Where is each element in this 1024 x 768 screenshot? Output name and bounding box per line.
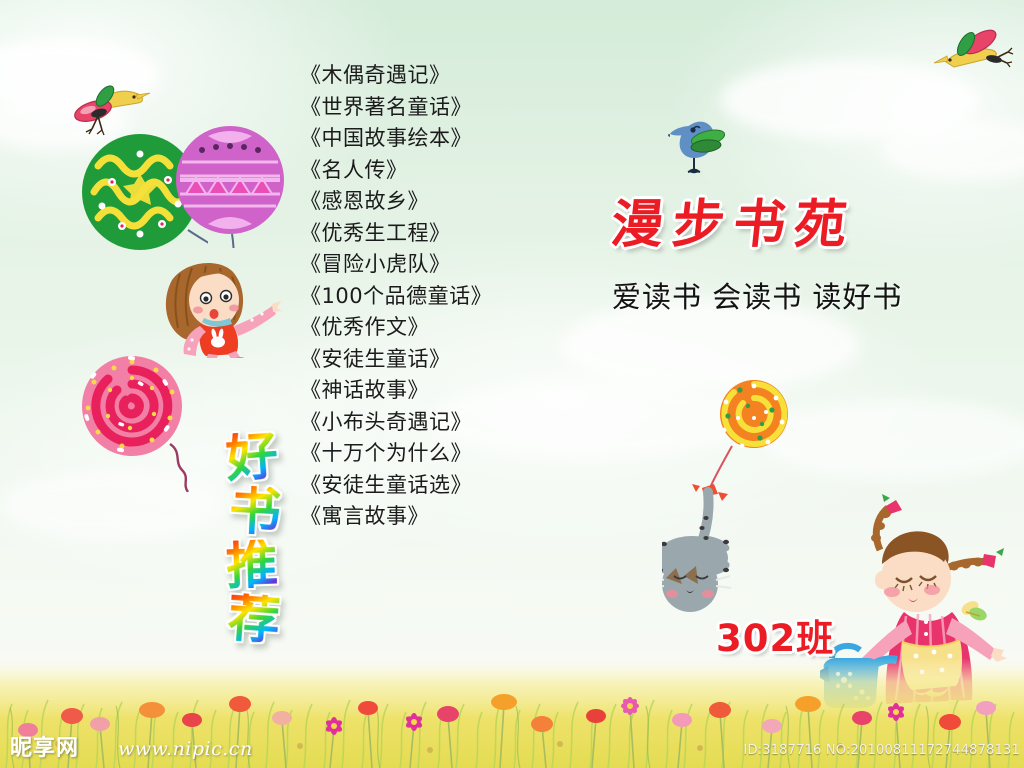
list-item: 《小布头奇遇记》 (300, 407, 540, 439)
girl-with-balloons (140, 228, 290, 358)
list-item: 《感恩故乡》 (300, 186, 540, 218)
blue-bird (668, 112, 730, 176)
list-item: 《安徒生童话》 (300, 344, 540, 376)
watermark-id: ID:3187716 NO:20100811172744878131 (743, 743, 1020, 758)
list-item: 《寓言故事》 (300, 501, 540, 533)
slogan-char: 书 (228, 485, 283, 540)
page-title: 漫步书苑 (608, 182, 916, 257)
recommended-book-list: 《木偶奇遇记》 《世界著名童话》 《中国故事绘本》 《名人传》 《感恩故乡》 《… (300, 60, 540, 533)
hummingbird-top-right-icon (928, 18, 1024, 84)
list-item: 《优秀作文》 (300, 312, 540, 344)
hummingbird-top-left-icon (58, 66, 158, 136)
list-item: 《十万个为什么》 (300, 438, 540, 470)
watermark-url: www.nipic.cn (118, 738, 253, 760)
list-item: 《名人传》 (300, 155, 540, 187)
list-item: 《神话故事》 (300, 375, 540, 407)
list-item: 《木偶奇遇记》 (300, 60, 540, 92)
list-item: 《冒险小虎队》 (300, 249, 540, 281)
list-item: 《优秀生工程》 (300, 218, 540, 250)
slogan-char: 荐 (226, 592, 282, 648)
page-subtitle: 爱读书 会读书 读好书 (612, 274, 912, 316)
list-item: 《世界著名童话》 (300, 92, 540, 124)
list-item: 《中国故事绘本》 (300, 123, 540, 155)
cat-with-lollipop-balloon (662, 372, 812, 612)
watermark-logo: 昵享网 (10, 730, 79, 762)
list-item: 《安徒生童话选》 (300, 470, 540, 502)
poster-canvas: 《木偶奇遇记》 《世界著名童话》 《中国故事绘本》 《名人传》 《感恩故乡》 《… (0, 0, 1024, 768)
vertical-slogan: 好 书 推 荐 (212, 432, 292, 648)
list-item: 《100个品德童话》 (300, 281, 540, 313)
slogan-char: 推 (225, 539, 279, 593)
balloon-pink-spiral (78, 352, 218, 492)
slogan-char: 好 (224, 430, 280, 486)
